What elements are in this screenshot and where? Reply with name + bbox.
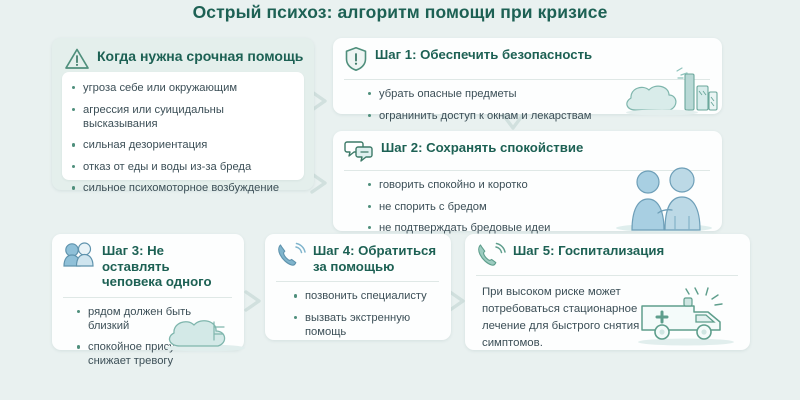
list-item: угроза себе или окружающим (70, 81, 294, 95)
phone-signal-icon (276, 242, 306, 268)
panel-step4-header: Шаг 4: Обратиться за помощью (276, 242, 439, 274)
list-item: огранинить доступ к окнам и лекарствам (366, 109, 706, 123)
panel-step5-header: Шаг 5: Госпитализация (476, 242, 738, 268)
panel-step3-body: рядом должен быть близкий спокойное прис… (63, 298, 232, 369)
list-item: говорить спокойно и коротко (366, 178, 706, 192)
panel-warning: Когда нужна срочная помощь угроза себе и… (52, 38, 314, 190)
two-persons-icon (63, 242, 95, 268)
list-item: сильная дезориентация (70, 138, 294, 152)
list-item: спокойное присутствие снижает тревогу (75, 340, 228, 368)
panel-warning-list-card: угроза себе или окружающим агрессия или … (62, 72, 304, 180)
list-item: рядом должен быть близкий (75, 305, 228, 333)
speech-bubbles-icon (344, 139, 374, 163)
infographic-canvas: Острый психоз: алгоритм помощи при кризи… (0, 0, 800, 400)
panel-step5-paragraph: При высоком риске может потребоваться ст… (482, 284, 680, 352)
list-item: не подтверждать бредовые идеи (366, 221, 706, 235)
panel-step5-body: При высоком риске может потребоваться ст… (476, 276, 738, 352)
step2-list: говорить спокойно и коротко не спорить с… (366, 178, 706, 235)
panel-step2-body: говорить спокойно и коротко не спорить с… (344, 171, 710, 235)
phone-signal-green-icon (476, 242, 506, 268)
panel-step1-body: убрать опасные предметы огранинить досту… (344, 80, 710, 123)
list-item: сильное психомоторное возбуждение (70, 181, 294, 195)
panel-step4-body: позвонить специалисту вызвать экстренную… (276, 282, 439, 339)
list-item: убрать опасные предметы (366, 87, 706, 101)
list-item: агрессия или суицидальны высказывания (70, 103, 294, 131)
warning-triangle-icon (64, 47, 90, 71)
panel-warning-header: Когда нужна срочная помощь (52, 38, 314, 71)
panel-step5: Шаг 5: Госпитализация При высоком риске … (465, 234, 750, 350)
list-item: отказ от еды и воды из-за бреда (70, 160, 294, 174)
panel-step2: Шаг 2: Сохранять спокойствие говорить сп… (333, 131, 722, 231)
list-item: не спорить с бредом (366, 200, 706, 214)
panel-step4-title: Шаг 4: Обратиться за помощью (313, 242, 439, 274)
panel-step5-title: Шаг 5: Госпитализация (513, 242, 664, 259)
list-item: вызвать экстренную помощь (292, 311, 435, 339)
panel-step3-header: Шаг 3: Не оставлять чеповека одного (63, 242, 232, 290)
panel-step4: Шаг 4: Обратиться за помощью позвонить с… (265, 234, 451, 340)
warning-list: угроза себе или окружающим агрессия или … (62, 72, 304, 195)
panel-step2-title: Шаг 2: Сохранять спокойствие (381, 139, 583, 156)
panel-warning-title: Когда нужна срочная помощь (97, 47, 303, 65)
panel-step1-title: Шаг 1: Обеспечить безопасность (375, 46, 592, 63)
panel-step2-header: Шаг 2: Сохранять спокойствие (344, 139, 710, 163)
step3-list: рядом должен быть близкий спокойное прис… (75, 305, 228, 369)
panel-step3-title: Шаг 3: Не оставлять чеповека одного (102, 242, 232, 290)
page-title: Острый психоз: алгоритм помощи при кризи… (0, 2, 800, 23)
step1-list: убрать опасные предметы огранинить досту… (366, 87, 706, 123)
shield-exclamation-icon (344, 46, 368, 72)
panel-step3: Шаг 3: Не оставлять чеповека одного рядо… (52, 234, 244, 350)
panel-step1: Шаг 1: Обеспечить безопасность убрать оп… (333, 38, 722, 114)
step4-list: позвонить специалисту вызвать экстренную… (292, 289, 435, 339)
list-item: позвонить специалисту (292, 289, 435, 303)
panel-step1-header: Шаг 1: Обеспечить безопасность (344, 46, 710, 72)
